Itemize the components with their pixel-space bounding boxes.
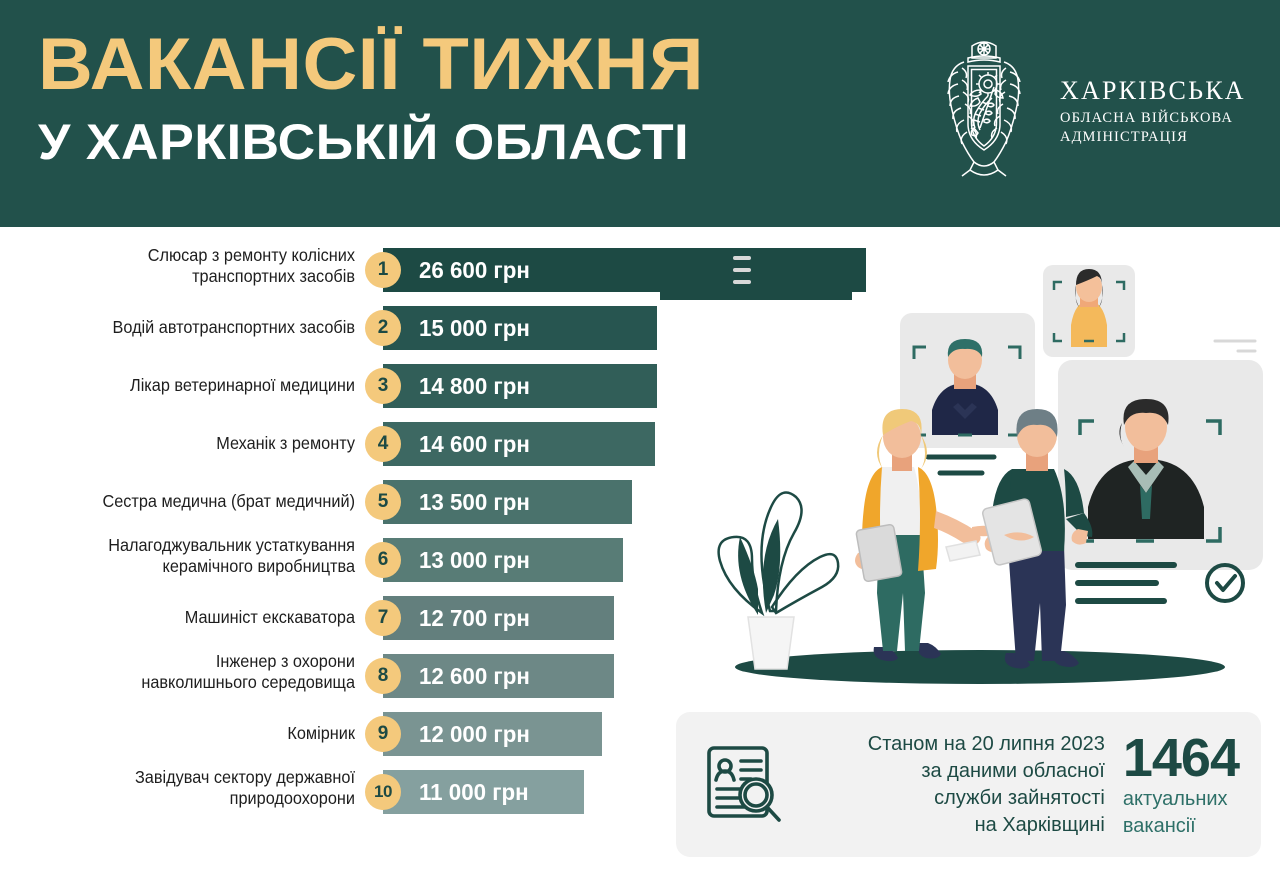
coat-of-arms-icon — [928, 32, 1040, 190]
chart-rank-badge: 1 — [365, 252, 401, 288]
vacancy-count-number: 1464 — [1123, 731, 1239, 785]
chart-row: Комірник12 000 грн9 — [0, 712, 680, 756]
chart-row-label: Комірник — [39, 723, 355, 744]
chart-bar: 11 000 грн — [383, 770, 584, 814]
summary-line-4: на Харківщині — [814, 812, 1105, 839]
page-title: ВАКАНСІЇ ТИЖНЯ У ХАРКІВСЬКІЙ ОБЛАСТІ — [38, 24, 868, 172]
chart-rank-badge: 9 — [365, 716, 401, 752]
chart-rank-badge: 10 — [365, 774, 401, 810]
chart-row-label-line: Налагоджувальник устаткування — [39, 535, 355, 556]
chart-row-label: Налагоджувальник устаткуваннякерамічного… — [39, 535, 355, 577]
chart-row-label-line: Водій автотранспортних засобів — [39, 317, 355, 338]
chart-bar: 15 000 грн — [383, 306, 657, 350]
logo-line-2: ОБЛАСНА ВІЙСЬКОВА — [1060, 109, 1246, 128]
title-primary: ВАКАНСІЇ ТИЖНЯ — [38, 24, 901, 106]
chart-rank-badge: 8 — [365, 658, 401, 694]
chart-bar-value: 12 600 грн — [419, 663, 530, 690]
chart-row: Слюсар з ремонту коліснихтранспортних за… — [0, 248, 680, 292]
chart-bar-value: 13 500 грн — [419, 489, 530, 516]
chart-row-label-line: Лікар ветеринарної медицини — [39, 375, 355, 396]
summary-line-3: служби зайнятості — [814, 785, 1105, 812]
chart-row-label: Інженер з охоронинавколишнього середовищ… — [39, 651, 355, 693]
chart-row-label-line: Слюсар з ремонту колісних — [39, 245, 355, 266]
chart-bar-value: 13 000 грн — [419, 547, 530, 574]
chart-bar-value: 26 600 грн — [419, 257, 530, 284]
chart-row-label: Завідувач сектору державноїприродоохорон… — [39, 767, 355, 809]
chart-row: Механік з ремонту14 600 грн4 — [0, 422, 680, 466]
chart-row-label-line: природоохорони — [39, 788, 355, 809]
chart-row: Інженер з охоронинавколишнього середовищ… — [0, 654, 680, 698]
chart-row-label: Сестра медична (брат медичний) — [39, 491, 355, 512]
chart-bar-value: 11 000 грн — [419, 779, 529, 806]
chart-row-label-line: Комірник — [39, 723, 355, 744]
chart-row: Машиніст екскаватора12 700 грн7 — [0, 596, 680, 640]
organization-logo: ХАРКІВСЬКА ОБЛАСНА ВІЙСЬКОВА АДМІНІСТРАЦ… — [928, 32, 1246, 190]
summary-line-1: Станом на 20 липня 2023 — [814, 731, 1105, 758]
chart-row-label-line: навколишнього середовища — [39, 672, 355, 693]
chart-row: Сестра медична (брат медичний)13 500 грн… — [0, 480, 680, 524]
chart-rank-badge: 2 — [365, 310, 401, 346]
title-secondary: У ХАРКІВСЬКІЙ ОБЛАСТІ — [38, 112, 901, 172]
chart-bar: 13 000 грн — [383, 538, 623, 582]
illustration-svg — [660, 235, 1280, 705]
resume-search-icon — [700, 740, 790, 830]
chart-row: Налагоджувальник устаткуваннякерамічного… — [0, 538, 680, 582]
chart-row-label-line: транспортних засобів — [39, 266, 355, 287]
chart-bar-value: 12 700 грн — [419, 605, 530, 632]
logo-text: ХАРКІВСЬКА ОБЛАСНА ВІЙСЬКОВА АДМІНІСТРАЦ… — [1060, 76, 1246, 147]
chart-bar: 13 500 грн — [383, 480, 632, 524]
chart-row-label: Водій автотранспортних засобів — [39, 317, 355, 338]
chart-rank-badge: 6 — [365, 542, 401, 578]
salary-bar-chart: Слюсар з ремонту коліснихтранспортних за… — [0, 240, 680, 850]
chart-row-label: Слюсар з ремонту коліснихтранспортних за… — [39, 245, 355, 287]
chart-row-label: Лікар ветеринарної медицини — [39, 375, 355, 396]
chart-bar-value: 14 600 грн — [419, 431, 530, 458]
header-banner: ВАКАНСІЇ ТИЖНЯ У ХАРКІВСЬКІЙ ОБЛАСТІ — [0, 0, 1280, 227]
chart-bar-value: 14 800 грн — [419, 373, 530, 400]
summary-panel: Станом на 20 липня 2023 за даними обласн… — [676, 712, 1261, 857]
chart-bar-value: 12 000 грн — [419, 721, 530, 748]
vacancy-count-block: 1464 актуальних вакансії — [1123, 731, 1239, 839]
summary-line-2: за даними обласної — [814, 758, 1105, 785]
chart-row-label: Механік з ремонту — [39, 433, 355, 454]
chart-row: Водій автотранспортних засобів15 000 грн… — [0, 306, 680, 350]
chart-row-label-line: керамічного виробництва — [39, 556, 355, 577]
chart-bar: 14 600 грн — [383, 422, 655, 466]
chart-rank-badge: 3 — [365, 368, 401, 404]
chart-row-label-line: Інженер з охорони — [39, 651, 355, 672]
chart-bar: 12 000 грн — [383, 712, 602, 756]
summary-text: Станом на 20 липня 2023 за даними обласн… — [814, 731, 1105, 839]
chart-bar: 14 800 грн — [383, 364, 657, 408]
chart-bar-value: 15 000 грн — [419, 315, 530, 342]
chart-rank-badge: 4 — [365, 426, 401, 462]
chart-bar: 12 700 грн — [383, 596, 614, 640]
chart-rank-badge: 5 — [365, 484, 401, 520]
recruitment-illustration — [660, 235, 1280, 705]
vacancy-count-label-line-1: актуальних — [1123, 787, 1239, 812]
chart-row-label: Машиніст екскаватора — [39, 607, 355, 628]
chart-row-label-line: Завідувач сектору державної — [39, 767, 355, 788]
chart-row: Завідувач сектору державноїприродоохорон… — [0, 770, 680, 814]
chart-row-label-line: Машиніст екскаватора — [39, 607, 355, 628]
chart-bar: 12 600 грн — [383, 654, 614, 698]
chart-row-label-line: Сестра медична (брат медичний) — [39, 491, 355, 512]
logo-line-3: АДМІНІСТРАЦІЯ — [1060, 128, 1246, 147]
chart-rank-badge: 7 — [365, 600, 401, 636]
chart-row: Лікар ветеринарної медицини14 800 грн3 — [0, 364, 680, 408]
logo-line-1: ХАРКІВСЬКА — [1060, 76, 1246, 106]
chart-row-label-line: Механік з ремонту — [39, 433, 355, 454]
vacancy-count-label-line-2: вакансії — [1123, 814, 1239, 839]
